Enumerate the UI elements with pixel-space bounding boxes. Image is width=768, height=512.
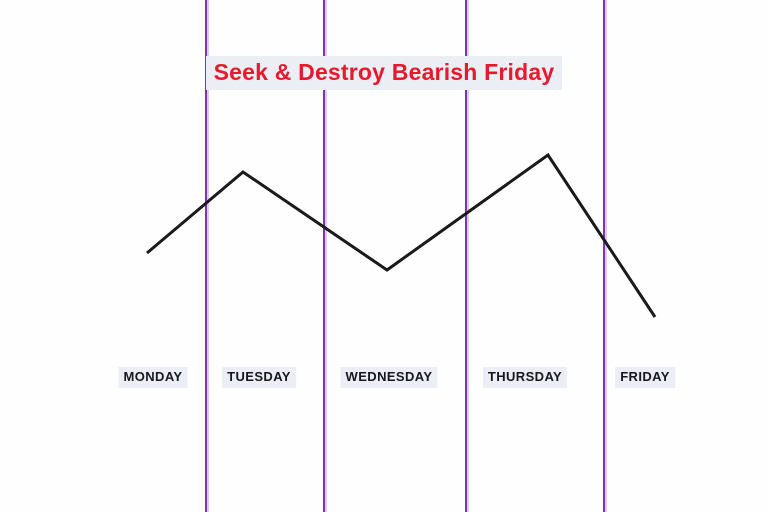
- axis-label-monday-text: MONDAY: [124, 369, 183, 384]
- axis-label-tuesday-text: TUESDAY: [227, 369, 291, 384]
- axis-label-friday-text: FRIDAY: [620, 369, 670, 384]
- axis-label-thursday-text: THURSDAY: [488, 369, 562, 384]
- chart-canvas: Seek & Destroy Bearish Friday MONDAY TUE…: [0, 0, 768, 512]
- price-line-chart: [0, 0, 768, 512]
- axis-label-wednesday: WEDNESDAY: [341, 367, 438, 388]
- axis-label-friday: FRIDAY: [615, 367, 675, 388]
- axis-label-monday: MONDAY: [119, 367, 188, 388]
- axis-label-thursday: THURSDAY: [483, 367, 567, 388]
- axis-label-tuesday: TUESDAY: [222, 367, 296, 388]
- price-line-series: [147, 155, 655, 317]
- axis-label-wednesday-text: WEDNESDAY: [346, 369, 433, 384]
